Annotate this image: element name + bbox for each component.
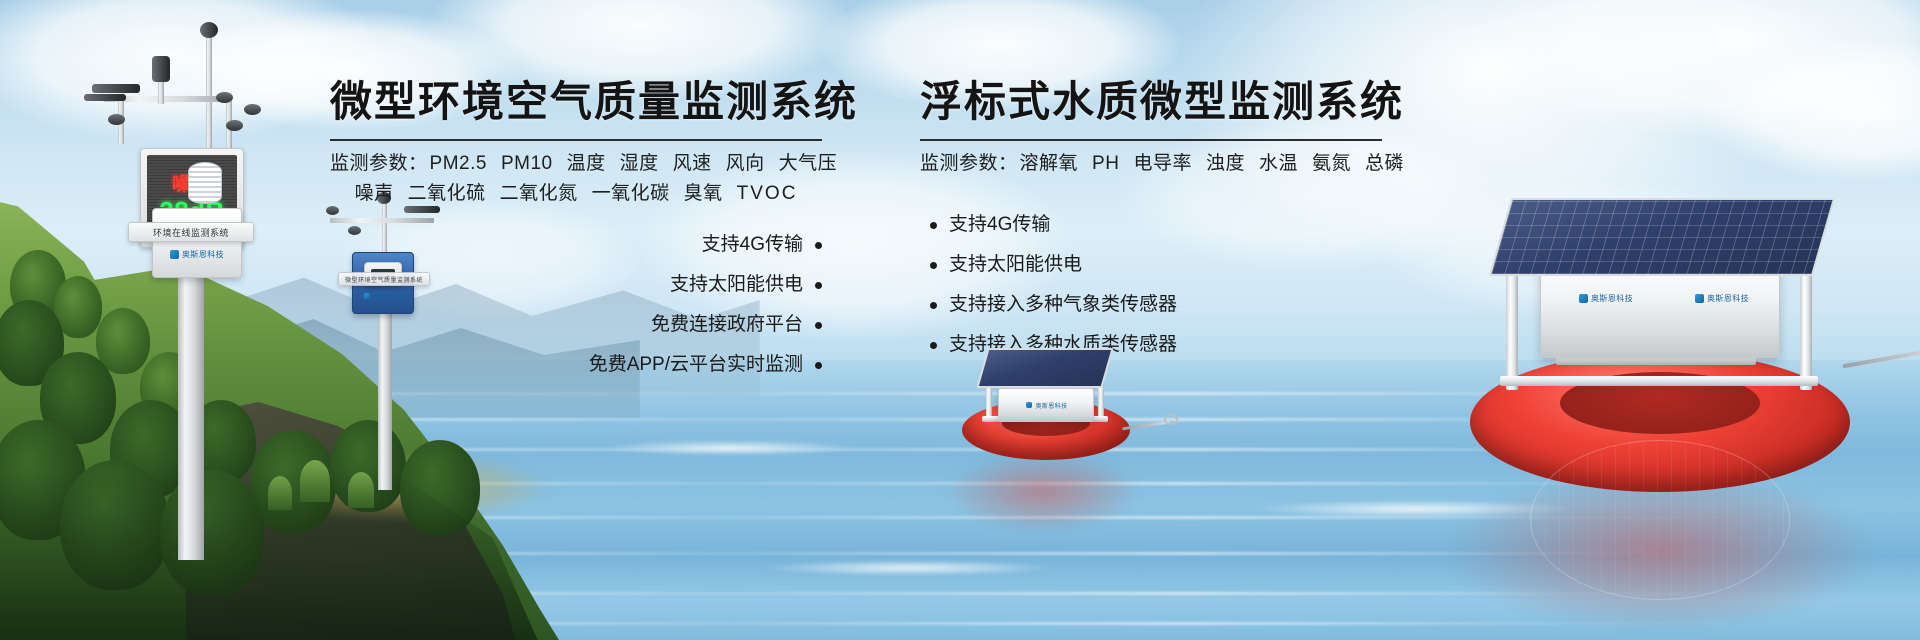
param-token: 臭氧	[684, 183, 723, 204]
right-panel-params-line-1: 监测参数：溶解氧PH电导率浊度水温氨氮总磷	[920, 149, 1382, 179]
station-brand-text: 奥斯恩科技	[182, 249, 224, 260]
feature-text: 支持太阳能供电	[670, 265, 803, 305]
right-panel-title: 浮标式水质微型监测系统	[920, 68, 1382, 129]
right-params-label: 监测参数：	[920, 153, 1018, 174]
station-mast	[206, 30, 212, 160]
product-banner: 噪声 28dB 环境在线监测系统 奥斯恩科技 微型环境空气质量监测系统 奥斯恩科…	[0, 0, 1920, 640]
left-panel-params-line-2: 噪声二氧化硫二氧化氮一氧化碳臭氧TVOC	[330, 179, 822, 209]
small-buoy-reflection	[948, 452, 1138, 532]
param-token: PM2.5	[430, 153, 487, 174]
buoy-mooring-mesh	[1530, 440, 1790, 600]
small-buoy-brand-text: 奥斯恩科技	[1035, 401, 1067, 410]
param-token: 风向	[726, 153, 765, 174]
feature-text: 免费APP/云平台实时监测	[589, 345, 803, 385]
station-nameplate: 环境在线监测系统	[128, 222, 254, 242]
bullet-dot-icon	[815, 242, 822, 249]
station-nameplate-text: 环境在线监测系统	[153, 226, 229, 239]
buoy-brand-left-text: 奥斯恩科技	[1591, 293, 1633, 304]
solar-panel	[1489, 198, 1835, 276]
param-token: 水温	[1259, 153, 1298, 174]
small-buoy-brand: 奥斯恩科技	[1026, 401, 1067, 410]
sensor-head-icon	[152, 56, 170, 82]
list-item: 支持太阳能供电	[930, 245, 1382, 285]
param-token: 风速	[673, 153, 712, 174]
buoy-brand-plate-left: 奥斯恩科技	[1568, 286, 1644, 310]
left-panel-params-line-1: 监测参数：PM2.5PM10温度湿度风速风向大气压	[330, 149, 822, 179]
param-token: 温度	[567, 153, 606, 174]
param-token: 二氧化氮	[500, 183, 578, 204]
feature-text: 支持4G传输	[949, 205, 1050, 245]
sensor-head-icon	[200, 22, 218, 38]
param-token: 噪声	[355, 183, 394, 204]
bullet-dot-icon	[815, 322, 822, 329]
bullet-dot-icon	[930, 262, 937, 269]
station-enclosure	[152, 208, 242, 278]
cloud-icon	[0, 0, 380, 140]
small-solar-panel	[976, 348, 1113, 388]
buoy-brand-right-text: 奥斯恩科技	[1707, 293, 1749, 304]
water-shimmer	[760, 560, 1060, 576]
anemometer-cup-icon	[226, 120, 243, 131]
list-item: 支持4G传输	[330, 225, 822, 265]
param-token: 大气压	[779, 153, 838, 174]
feature-text: 支持接入多种气象类传感器	[949, 285, 1177, 325]
buoy-brand-plate-right: 奥斯恩科技	[1684, 286, 1760, 310]
brand-logo-icon	[1026, 402, 1032, 408]
brand-logo-icon	[170, 250, 179, 259]
station-brand: 奥斯恩科技	[170, 249, 224, 260]
buoy-brand-left: 奥斯恩科技	[1579, 293, 1633, 304]
water-shimmer	[600, 440, 860, 456]
param-token: PH	[1092, 153, 1119, 174]
right-panel-feature-list: 支持4G传输 支持太阳能供电 支持接入多种气象类传感器 支持接入多种水质类传感器	[920, 205, 1382, 365]
wind-vane-icon	[84, 94, 126, 101]
anemometer-cup-icon	[244, 104, 261, 115]
small-buoy-brand-plate: 奥斯恩科技	[1018, 398, 1076, 412]
left-text-panel: 微型环境空气质量监测系统 监测参数：PM2.5PM10温度湿度风速风向大气压 噪…	[330, 68, 822, 385]
feature-text: 免费连接政府平台	[651, 305, 803, 345]
right-panel-divider	[920, 139, 1382, 141]
station-pole	[178, 250, 204, 560]
param-token: PM10	[501, 153, 553, 174]
anemometer-cup-icon	[108, 114, 125, 125]
station-brand-plate: 奥斯恩科技	[160, 246, 234, 262]
bullet-dot-icon	[930, 342, 937, 349]
left-panel-divider	[330, 139, 822, 141]
param-token: 二氧化硫	[408, 183, 486, 204]
feature-text: 支持太阳能供电	[949, 245, 1082, 285]
list-item: 支持接入多种气象类传感器	[930, 285, 1382, 325]
buoy-frame-beam	[1500, 376, 1818, 386]
bullet-dot-icon	[815, 282, 822, 289]
list-item: 免费APP/云平台实时监测	[330, 345, 822, 385]
param-token: 湿度	[620, 153, 659, 174]
brand-logo-icon	[1579, 294, 1588, 303]
list-item: 支持太阳能供电	[330, 265, 822, 305]
buoy-brand-right: 奥斯恩科技	[1695, 293, 1749, 304]
param-token: 电导率	[1133, 153, 1192, 174]
param-token: 溶解氧	[1020, 153, 1079, 174]
brand-logo-icon	[1695, 294, 1704, 303]
right-text-panel: 浮标式水质微型监测系统 监测参数：溶解氧PH电导率浊度水温氨氮总磷 支持4G传输…	[920, 68, 1382, 365]
param-token: TVOC	[737, 183, 798, 204]
anemometer-cup-icon	[216, 92, 233, 103]
param-token: 总磷	[1365, 153, 1404, 174]
param-token: 氨氮	[1312, 153, 1351, 174]
left-params-label: 监测参数：	[330, 153, 428, 174]
bullet-dot-icon	[930, 302, 937, 309]
left-panel-feature-list: 支持4G传输 支持太阳能供电 免费连接政府平台 免费APP/云平台实时监测	[330, 225, 822, 385]
param-token: 一氧化碳	[592, 183, 670, 204]
feature-text: 支持4G传输	[702, 225, 803, 265]
bullet-dot-icon	[930, 222, 937, 229]
cloud-icon	[1480, 0, 1920, 140]
bullet-dot-icon	[815, 362, 822, 369]
list-item: 免费连接政府平台	[330, 305, 822, 345]
wind-vane-icon	[92, 84, 140, 93]
cloud-icon	[1700, 40, 1920, 180]
small-buoy-probe-ring-icon	[1164, 414, 1178, 425]
list-item: 支持4G传输	[930, 205, 1382, 245]
param-token: 浊度	[1206, 153, 1245, 174]
left-panel-title: 微型环境空气质量监测系统	[330, 68, 822, 129]
radiation-shield-icon	[188, 162, 222, 204]
